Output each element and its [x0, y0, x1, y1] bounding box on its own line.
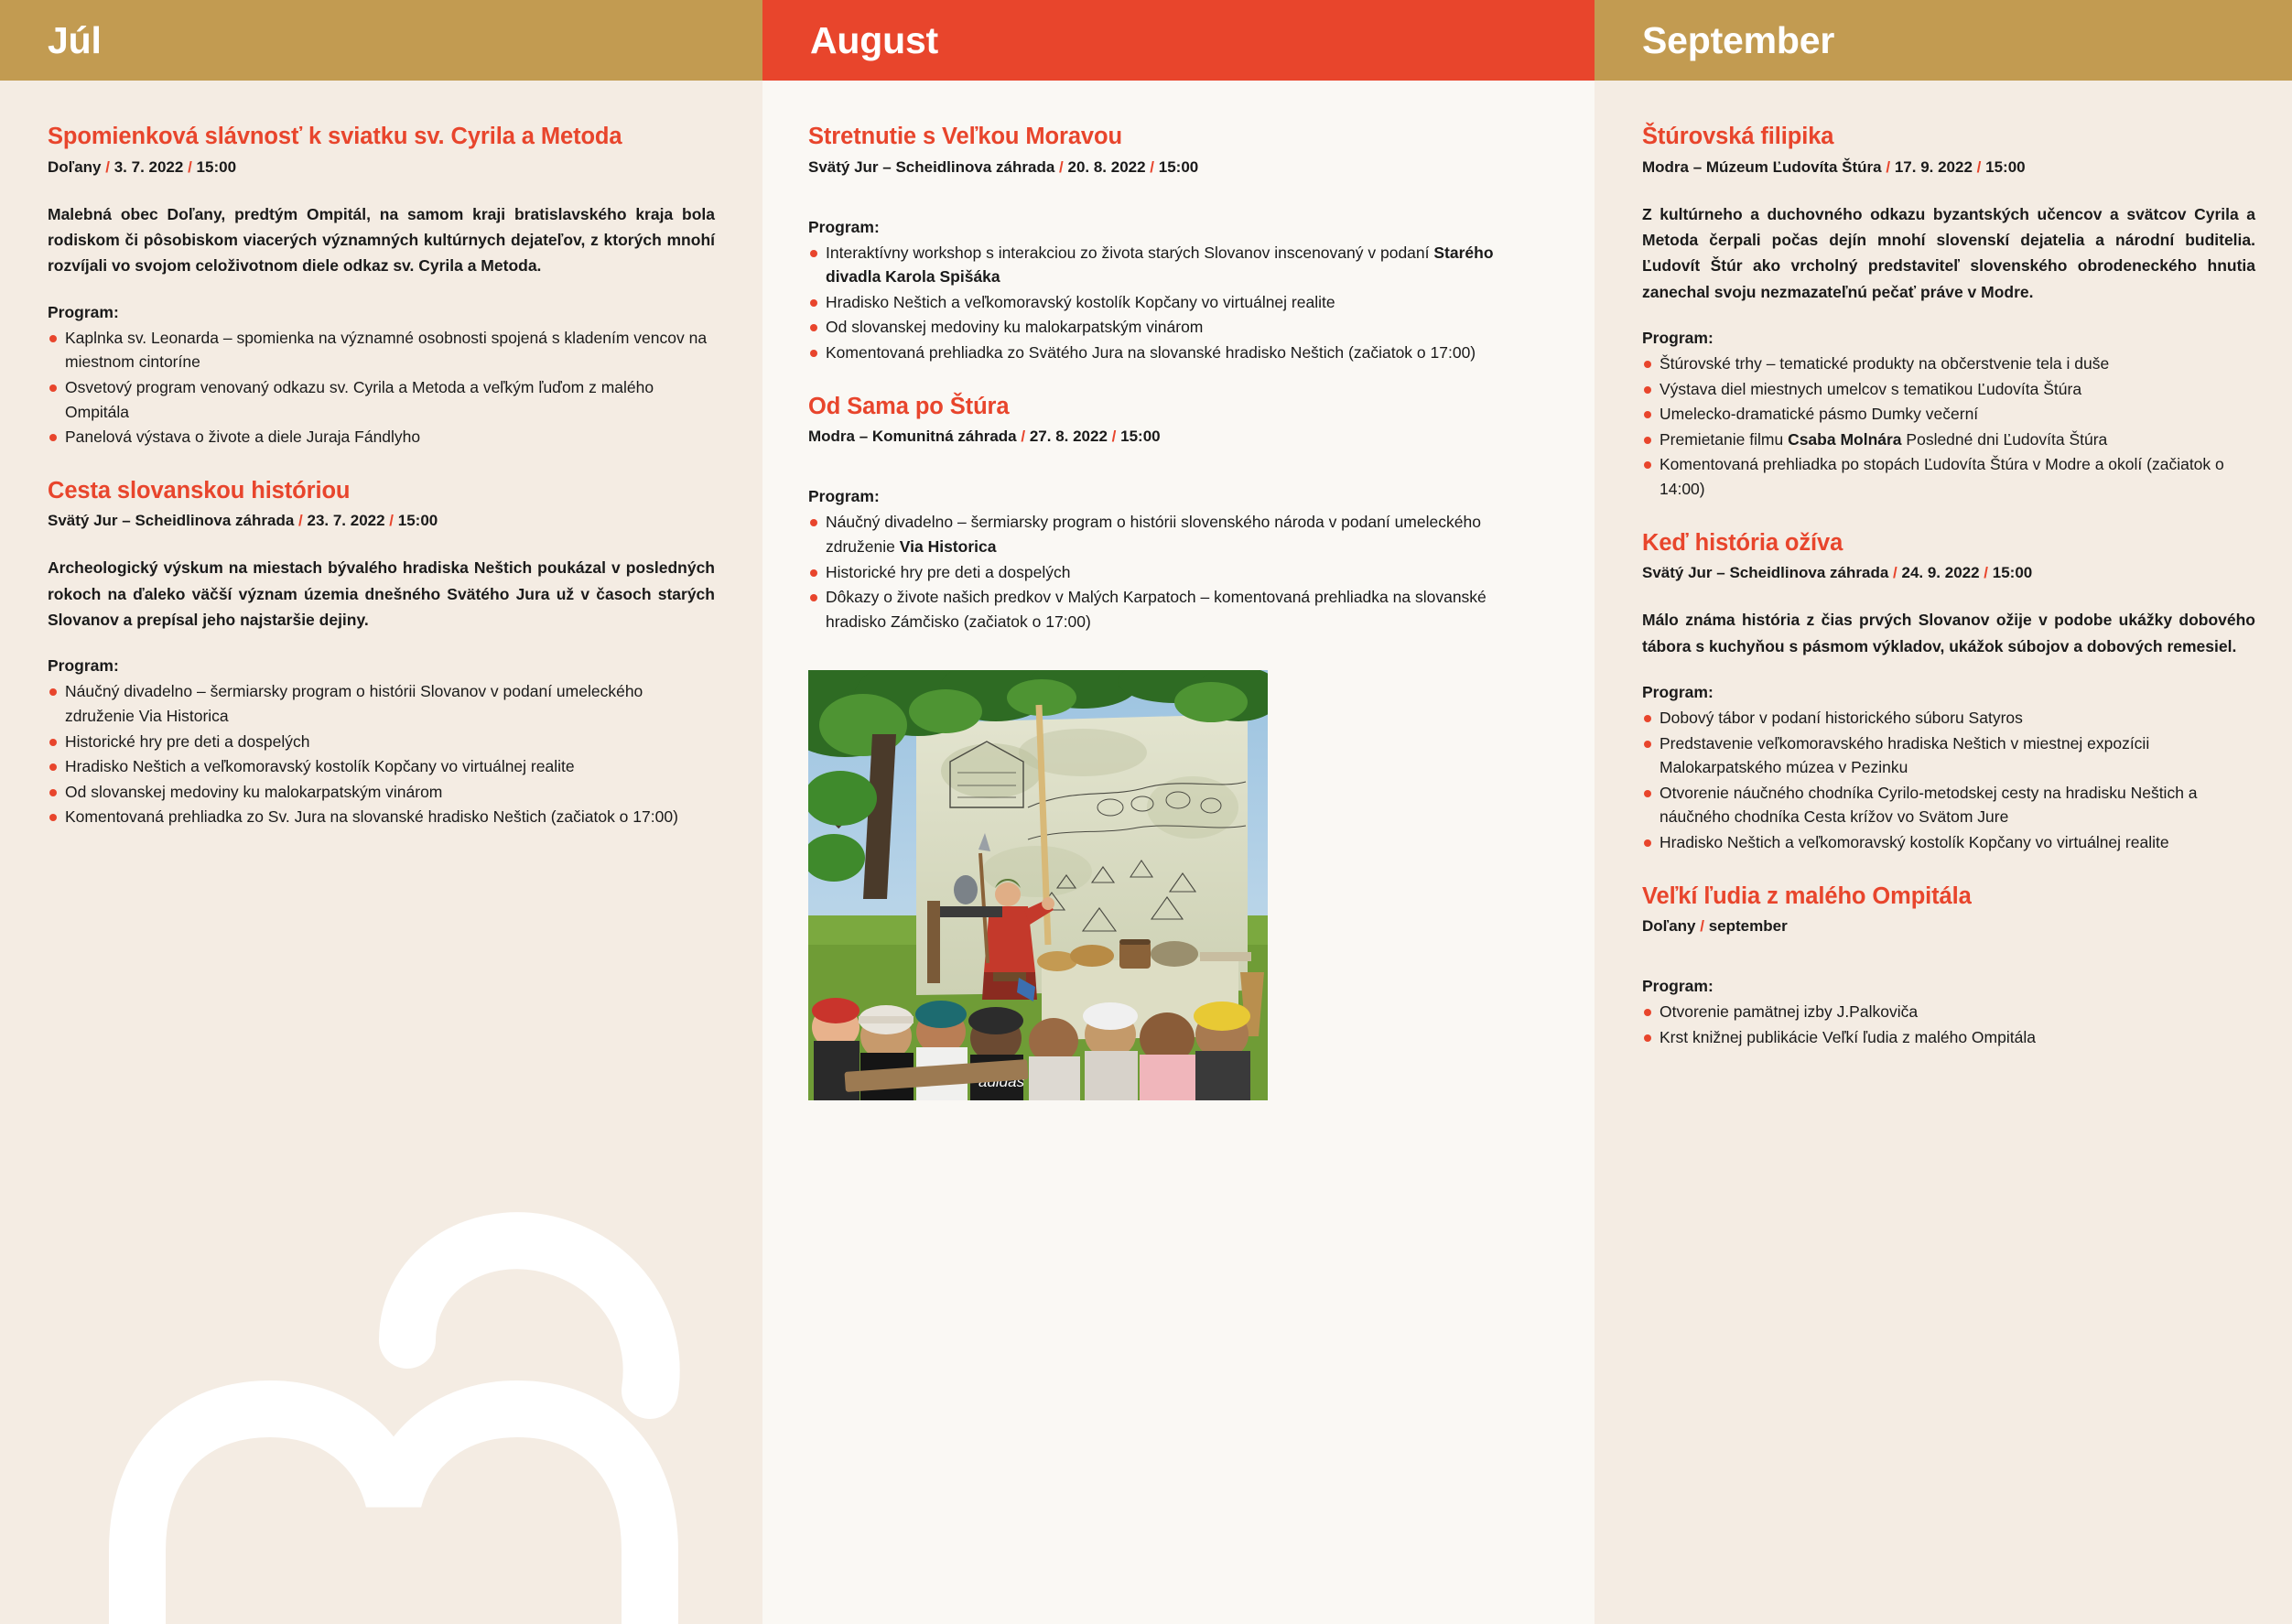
- program-item: Otvorenie pamätnej izby J.Palkoviča: [1642, 1000, 2255, 1024]
- event-meta: Modra – Múzeum Ľudovíta Štúra / 17. 9. 2…: [1642, 157, 2255, 178]
- meta-separator: /: [298, 512, 303, 529]
- program-item: Náučný divadelno – šermiarsky program o …: [48, 679, 715, 728]
- program-item: Štúrovské trhy – tematické produkty na o…: [1642, 352, 2255, 376]
- event-card: Spomienková slávnosť k sviatku sv. Cyril…: [48, 123, 715, 449]
- event-date: september: [1709, 917, 1788, 935]
- month-title-september: September: [1642, 22, 1834, 60]
- event-date: 23. 7. 2022: [307, 512, 384, 529]
- program-item: Panelová výstava o živote a diele Juraja…: [48, 425, 715, 449]
- event-card: Veľkí ľudia z malého Ompitála Doľany / s…: [1642, 882, 2255, 1050]
- program-item: Krst knižnej publikácie Veľkí ľudia z ma…: [1642, 1025, 2255, 1050]
- program-item: Komentovaná prehliadka zo Svätého Jura n…: [808, 341, 1540, 365]
- event-title: Od Sama po Štúra: [808, 393, 1540, 421]
- program-item: Náučný divadelno – šermiarsky program o …: [808, 510, 1540, 558]
- event-card: Keď história ožíva Svätý Jur – Scheidlin…: [1642, 529, 2255, 855]
- meta-separator: /: [188, 158, 192, 176]
- month-band-september: September: [1595, 0, 2292, 81]
- program-list: Otvorenie pamätnej izby J.PalkovičaKrst …: [1642, 1000, 2255, 1049]
- meta-separator: /: [1112, 428, 1117, 445]
- event-meta: Svätý Jur – Scheidlinova záhrada / 24. 9…: [1642, 563, 2255, 583]
- meta-separator: /: [1893, 564, 1897, 581]
- program-item: Dobový tábor v podaní historického súbor…: [1642, 706, 2255, 731]
- month-title-august: August: [810, 22, 938, 60]
- month-column-jul: Júl Spomienková slávnosť k sviatku sv. C…: [0, 0, 762, 1624]
- program-label: Program:: [1642, 329, 2255, 348]
- program-item: Od slovanskej medoviny ku malokarpatským…: [808, 315, 1540, 340]
- program-item: Umelecko-dramatické pásmo Dumky večerní: [1642, 402, 2255, 427]
- event-description: Malebná obec Doľany, predtým Ompitál, na…: [48, 201, 715, 279]
- meta-separator: /: [1021, 428, 1025, 445]
- event-place: Modra – Múzeum Ľudovíta Štúra: [1642, 158, 1882, 176]
- event-meta: Svätý Jur – Scheidlinova záhrada / 23. 7…: [48, 511, 715, 531]
- event-place: Svätý Jur – Scheidlinova záhrada: [808, 158, 1054, 176]
- event-time: 15:00: [1993, 564, 2032, 581]
- program-item: Hradisko Neštich a veľkomoravský kostolí…: [48, 754, 715, 779]
- program-item: Od slovanskej medoviny ku malokarpatským…: [48, 780, 715, 805]
- event-place: Svätý Jur – Scheidlinova záhrada: [1642, 564, 1888, 581]
- event-title: Veľkí ľudia z malého Ompitála: [1642, 882, 2255, 911]
- event-time: 15:00: [1985, 158, 2025, 176]
- event-description: Z kultúrneho a duchovného odkazu byzants…: [1642, 201, 2255, 305]
- event-meta: Doľany / september: [1642, 916, 2255, 937]
- event-meta: Modra – Komunitná záhrada / 27. 8. 2022 …: [808, 427, 1540, 447]
- event-time: 15:00: [398, 512, 438, 529]
- month-column-august: August Stretnutie s Veľkou Moravou Svätý…: [762, 0, 1595, 1624]
- event-place: Svätý Jur – Scheidlinova záhrada: [48, 512, 294, 529]
- program-item: Premietanie filmu Csaba Molnára Posledné…: [1642, 428, 2255, 452]
- event-title: Stretnutie s Veľkou Moravou: [808, 123, 1540, 151]
- event-time: 15:00: [197, 158, 236, 176]
- program-item: Historické hry pre deti a dospelých: [808, 560, 1540, 585]
- event-title: Cesta slovanskou históriou: [48, 477, 715, 505]
- spacer: [1642, 960, 2255, 977]
- program-item: Historické hry pre deti a dospelých: [48, 730, 715, 754]
- event-description: Archeologický výskum na miestach bývaléh…: [48, 555, 715, 633]
- program-list: Náučný divadelno – šermiarsky program o …: [48, 679, 715, 829]
- meta-separator: /: [1984, 564, 1988, 581]
- watermark-m-logo: [101, 1185, 687, 1624]
- program-item: Interaktívny workshop s interakciou zo ž…: [808, 241, 1540, 289]
- program-item: Osvetový program venovaný odkazu sv. Cyr…: [48, 375, 715, 424]
- program-list: Kaplnka sv. Leonarda – spomienka na význ…: [48, 326, 715, 449]
- spacer: [808, 201, 1540, 218]
- meta-separator: /: [1059, 158, 1064, 176]
- program-list: Interaktívny workshop s interakciou zo ž…: [808, 241, 1540, 365]
- program-item: Hradisko Neštich a veľkomoravský kostolí…: [808, 290, 1540, 315]
- event-title: Keď história ožíva: [1642, 529, 2255, 558]
- meta-separator: /: [1700, 917, 1704, 935]
- meta-separator: /: [1150, 158, 1154, 176]
- event-card: Cesta slovanskou históriou Svätý Jur – S…: [48, 477, 715, 829]
- program-label: Program:: [1642, 977, 2255, 996]
- program-item: Hradisko Neštich a veľkomoravský kostolí…: [1642, 830, 2255, 855]
- event-title: Spomienková slávnosť k sviatku sv. Cyril…: [48, 123, 715, 151]
- program-label: Program:: [808, 487, 1540, 506]
- program-item: Otvorenie náučného chodníka Cyrilo-metod…: [1642, 781, 2255, 829]
- meta-separator: /: [1977, 158, 1982, 176]
- program-item: Výstava diel miestnych umelcov s tematik…: [1642, 377, 2255, 402]
- program-label: Program:: [808, 218, 1540, 237]
- program-label: Program:: [48, 656, 715, 676]
- event-time: 15:00: [1159, 158, 1198, 176]
- program-list: Dobový tábor v podaní historického súbor…: [1642, 706, 2255, 855]
- column-body-august: Stretnutie s Veľkou Moravou Svätý Jur – …: [762, 81, 1595, 1100]
- event-date: 24. 9. 2022: [1901, 564, 1979, 581]
- program-list: Náučný divadelno – šermiarsky program o …: [808, 510, 1540, 633]
- event-meta: Svätý Jur – Scheidlinova záhrada / 20. 8…: [808, 157, 1540, 178]
- event-card: Štúrovská filipika Modra – Múzeum Ľudoví…: [1642, 123, 2255, 502]
- event-description: Málo známa história z čias prvých Slovan…: [1642, 607, 2255, 659]
- event-photo: adidas: [808, 670, 1268, 1100]
- meta-separator: /: [105, 158, 110, 176]
- program-label: Program:: [48, 303, 715, 322]
- column-body-jul: Spomienková slávnosť k sviatku sv. Cyril…: [0, 81, 762, 829]
- event-title: Štúrovská filipika: [1642, 123, 2255, 151]
- spacer: [808, 471, 1540, 487]
- event-place: Modra – Komunitná záhrada: [808, 428, 1017, 445]
- program-item: Kaplnka sv. Leonarda – spomienka na význ…: [48, 326, 715, 374]
- month-column-september: September Štúrovská filipika Modra – Múz…: [1595, 0, 2292, 1624]
- program-item: Komentovaná prehliadka po stopách Ľudoví…: [1642, 452, 2255, 501]
- program-list: Štúrovské trhy – tematické produkty na o…: [1642, 352, 2255, 502]
- event-place: Doľany: [1642, 917, 1696, 935]
- event-meta: Doľany / 3. 7. 2022 / 15:00: [48, 157, 715, 178]
- calendar-page: Júl Spomienková slávnosť k sviatku sv. C…: [0, 0, 2292, 1624]
- program-item: Predstavenie veľkomoravského hradiska Ne…: [1642, 731, 2255, 780]
- event-date: 20. 8. 2022: [1067, 158, 1145, 176]
- month-title-jul: Júl: [48, 22, 102, 60]
- event-place: Doľany: [48, 158, 102, 176]
- column-body-september: Štúrovská filipika Modra – Múzeum Ľudoví…: [1595, 81, 2292, 1049]
- event-date: 17. 9. 2022: [1895, 158, 1973, 176]
- event-date: 3. 7. 2022: [114, 158, 184, 176]
- program-label: Program:: [1642, 683, 2255, 702]
- program-item: Komentovaná prehliadka zo Sv. Jura na sl…: [48, 805, 715, 829]
- month-band-jul: Júl: [0, 0, 762, 81]
- meta-separator: /: [389, 512, 394, 529]
- program-item: Dôkazy o živote našich predkov v Malých …: [808, 585, 1540, 633]
- event-card: Od Sama po Štúra Modra – Komunitná záhra…: [808, 393, 1540, 634]
- event-card: Stretnutie s Veľkou Moravou Svätý Jur – …: [808, 123, 1540, 365]
- event-date: 27. 8. 2022: [1030, 428, 1108, 445]
- event-time: 15:00: [1120, 428, 1160, 445]
- month-band-august: August: [762, 0, 1595, 81]
- meta-separator: /: [1886, 158, 1890, 176]
